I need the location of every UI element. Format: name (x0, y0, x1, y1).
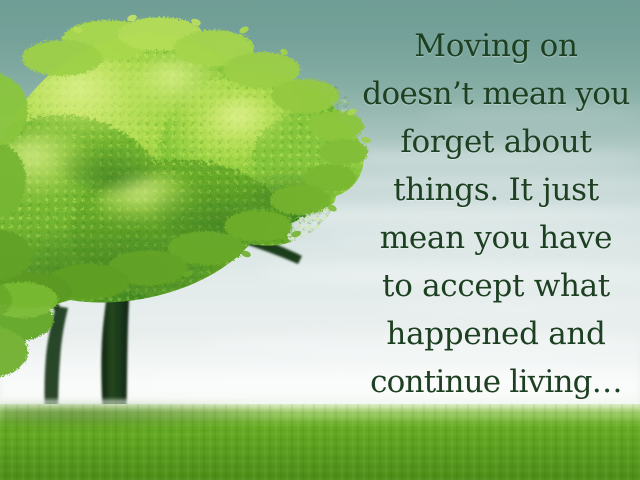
quote-line-1: Moving on (352, 22, 640, 70)
quote-line-8: continue living… (352, 358, 640, 406)
tree-ground-shadow (0, 404, 300, 430)
quote-line-2: doesn’t mean you (352, 70, 640, 118)
quote-line-6: to accept what (352, 262, 640, 310)
quote-image-canvas: Moving on doesn’t mean you forget about … (0, 0, 640, 480)
quote-line-3: forget about (352, 118, 640, 166)
quote-line-4: things. It just (352, 166, 640, 214)
quote-text-block: Moving on doesn’t mean you forget about … (352, 22, 640, 406)
quote-line-5: mean you have (352, 214, 640, 262)
quote-line-7: happened and (352, 310, 640, 358)
